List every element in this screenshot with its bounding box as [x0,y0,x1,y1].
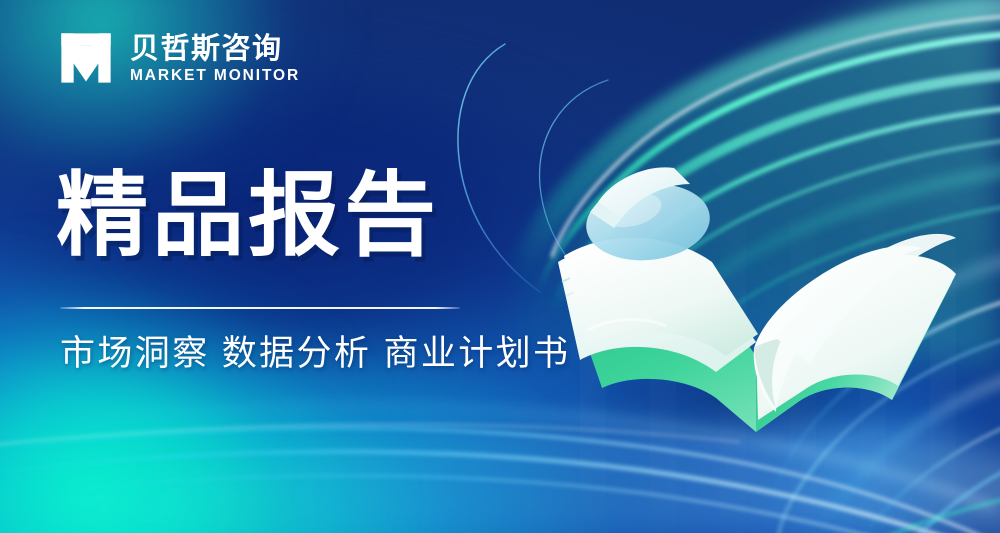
brand-text: 贝哲斯咨询 MARKET MONITOR [130,32,300,83]
brand-name-cn: 贝哲斯咨询 [130,34,300,64]
banner-content: 贝哲斯咨询 MARKET MONITOR 精品报告 市场洞察 数据分析 商业计划… [0,0,540,533]
open-book-illustration [540,150,960,450]
brand-lockup: 贝哲斯咨询 MARKET MONITOR [58,30,300,86]
page-subtitle: 市场洞察 数据分析 商业计划书 [60,332,570,376]
title-divider [60,307,460,309]
page-title: 精品报告 [56,168,440,265]
brand-name-en: MARKET MONITOR [130,67,300,84]
report-banner: 贝哲斯咨询 MARKET MONITOR 精品报告 市场洞察 数据分析 商业计划… [0,0,1000,533]
market-monitor-m-logo-icon [58,30,114,86]
